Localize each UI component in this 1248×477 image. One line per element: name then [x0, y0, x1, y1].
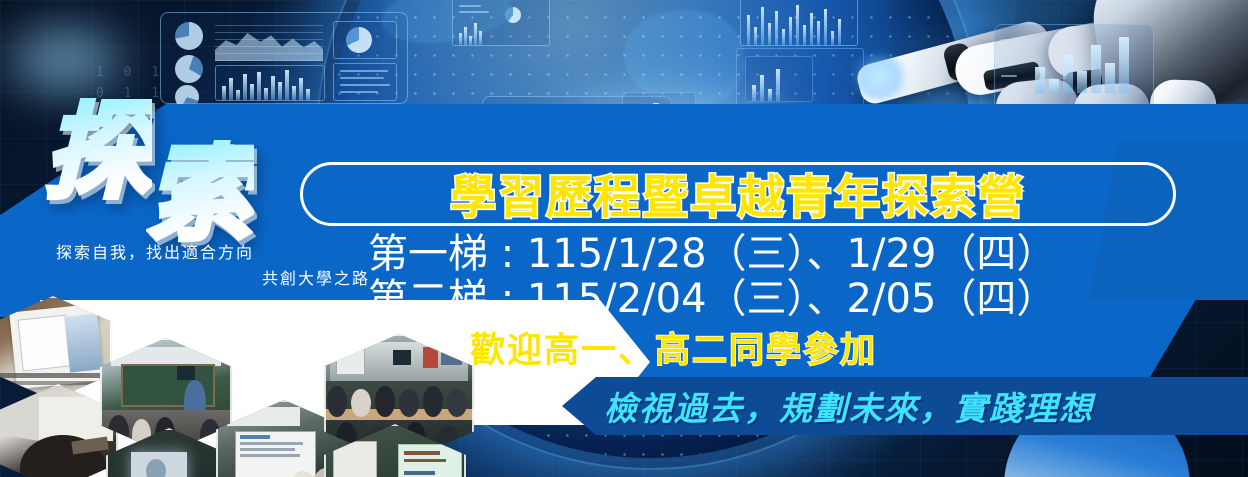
event-banner: 1 0 1 0 1 1 1 0 0 0 1 1 1 0 1 1 1 0 0 0 … [0, 0, 1248, 477]
hud-candlestick-panel [740, 0, 858, 46]
tagline-text: 檢視過去，規劃未來，實踐理想 [604, 383, 1244, 429]
hud-frame-panel [736, 48, 864, 108]
date-list: 第一梯 : 115/1/28（三）、1/29（四） 第二梯 : 115/2/04… [368, 232, 1168, 322]
hud-pie-2 [170, 50, 208, 88]
subtitle-line-2: 共創大學之路 [56, 266, 376, 292]
date-line-session-1: 第一梯 : 115/1/28（三）、1/29（四） [368, 232, 1168, 277]
hud-radar-panel [333, 21, 397, 59]
welcome-text: 歡迎高一、高二同學參加 [470, 322, 1090, 373]
fingertip-glow [846, 54, 912, 100]
hud-panel-mini-left [452, 0, 550, 46]
hud-dashboard-panel [160, 12, 408, 104]
hud-text-panel [333, 63, 397, 101]
hud-area-chart [215, 21, 323, 61]
hud-pie-1 [175, 22, 203, 50]
subtitle-line-1: 探索自我，找出適合方向 [56, 243, 254, 262]
hud-bar-chart [215, 65, 325, 101]
subtitle-block: 探索自我，找出適合方向 共創大學之路 [56, 240, 376, 292]
date-line-session-2: 第二梯 : 115/2/04（三）、2/05（四） [368, 277, 1168, 322]
collage-photo-poster [0, 296, 112, 400]
event-title: 學習歷程暨卓越青年探索營 [306, 165, 1170, 223]
